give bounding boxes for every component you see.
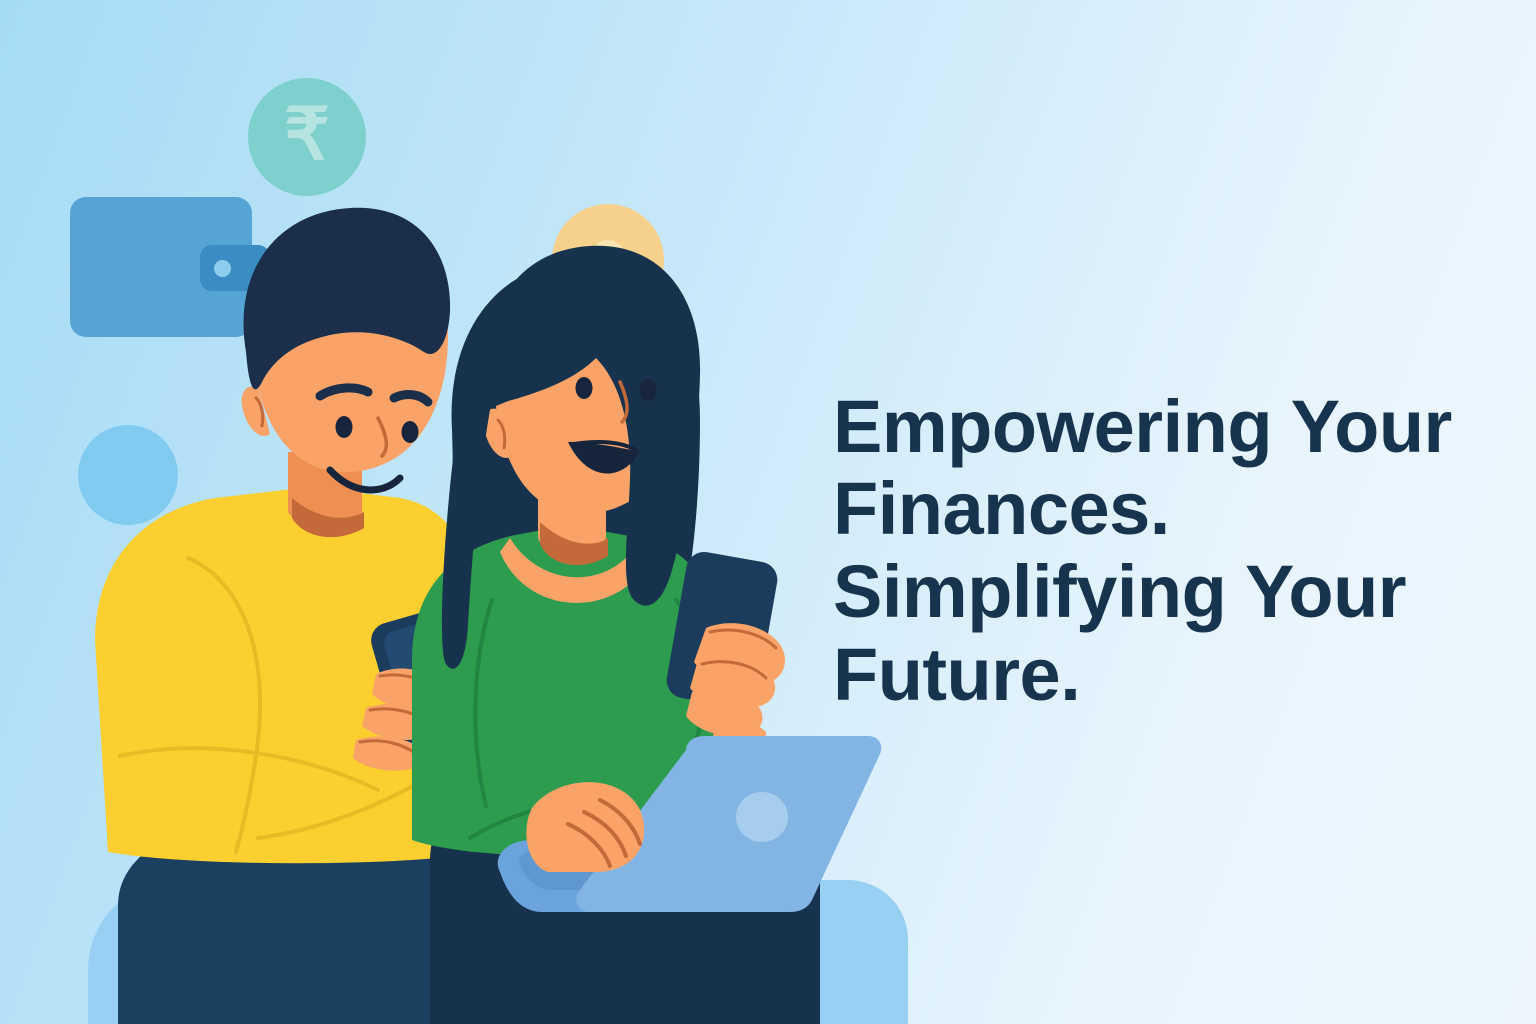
headline: Empowering Your Finances. Simplifying Yo…: [833, 386, 1473, 718]
hero-banner: ₹: [0, 0, 1536, 1024]
headline-line-2: Finances.: [833, 468, 1473, 551]
headline-line-4: Future.: [833, 634, 1473, 717]
headline-line-3: Simplifying Your: [833, 551, 1473, 634]
figure-woman: [412, 246, 881, 1024]
headline-line-1: Empowering Your: [833, 386, 1473, 469]
